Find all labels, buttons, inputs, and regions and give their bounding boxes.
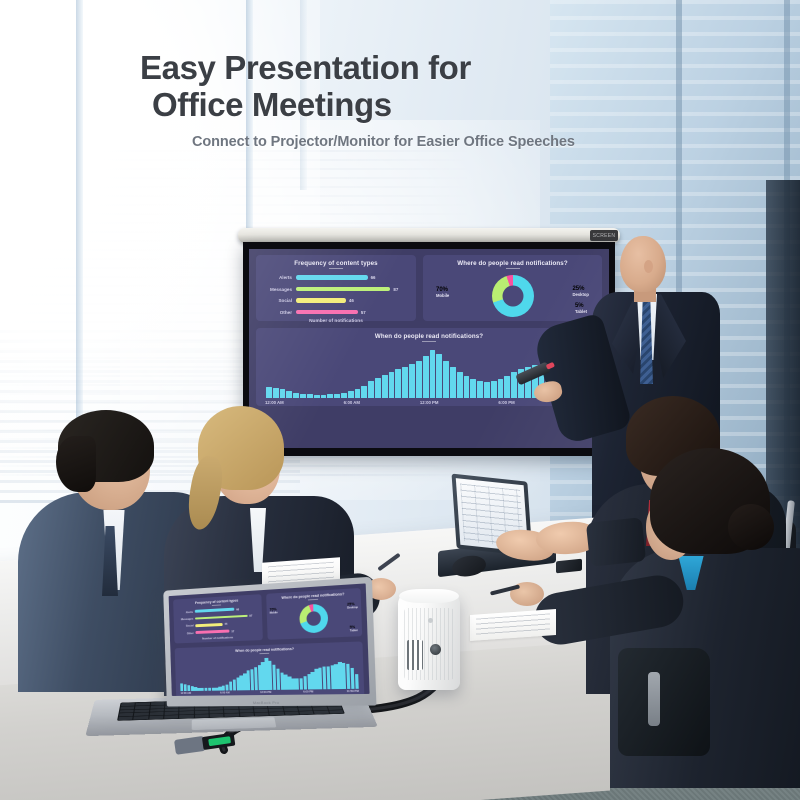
laptop-donut-legend-mobile: 70% Mobile	[270, 608, 278, 615]
laptop-bar-rows: Alerts66Messages87Social46Other57	[177, 605, 259, 637]
bar-fill	[195, 608, 235, 613]
timeseries-bar	[464, 376, 470, 398]
timeseries-bar	[355, 674, 359, 688]
bar-row: Alerts66	[263, 273, 409, 282]
bar-track: 66	[296, 275, 409, 280]
laptop-donut-legend-desktop: 25% Desktop	[347, 603, 358, 611]
presenter-ear	[644, 260, 653, 273]
timeseries-bar	[402, 367, 408, 398]
timeseries-bar	[348, 391, 354, 398]
primary-laptop[interactable]: Frequency of content types Alerts66Messa…	[96, 584, 372, 774]
keyboard-key[interactable]	[225, 713, 239, 716]
label: Mobile	[270, 612, 278, 615]
bar-fill	[296, 298, 346, 302]
timeseries-bar	[266, 387, 272, 398]
timeseries-bar	[504, 376, 510, 398]
screen-roller-bar: SCREEN	[238, 228, 620, 243]
suit-cuff	[586, 517, 646, 567]
device-indicator-dot	[428, 618, 433, 623]
bar-value: 66	[236, 607, 239, 611]
bar-value: 57	[361, 310, 366, 315]
bar-value: 57	[231, 629, 234, 633]
bar-label: Social	[263, 298, 296, 303]
bar-chart-title: Frequency of content types	[263, 260, 409, 267]
axis-tick-label: 6:00 AM	[344, 400, 360, 405]
keyboard-key[interactable]	[299, 711, 314, 714]
laptop-panel-timeseries: When do people read notifications? 12:00…	[175, 641, 365, 696]
timeseries-bar	[341, 393, 347, 398]
donut-legend-tablet-label: Tablet	[575, 310, 587, 315]
donut-legend-desktop: 25% Desktop	[572, 286, 589, 298]
timeseries-bar	[409, 364, 415, 398]
page-title: Easy Presentation for Office Meetings	[140, 50, 700, 124]
donut-legend-mobile: 70% Mobile	[436, 287, 449, 299]
laptop-panel-bar-chart: Frequency of content types Alerts66Messa…	[173, 594, 263, 643]
keyboard-key[interactable]	[314, 711, 329, 714]
bar-label: Alerts	[177, 609, 195, 614]
timeseries-bar	[389, 372, 395, 398]
timeseries-bar	[395, 369, 401, 398]
keyboard-key[interactable]	[284, 712, 299, 715]
panel-where-people-read-notifications: Where do people read notifications? 70% …	[423, 255, 602, 321]
laptop-screen: Frequency of content types Alerts66Messa…	[169, 583, 370, 696]
timeseries-bar	[286, 391, 292, 398]
window-mullion	[76, 0, 83, 470]
bar-track: 46	[296, 298, 409, 303]
keyboard-key[interactable]	[329, 710, 344, 713]
axis-tick-label: 12:00 AM	[265, 400, 284, 405]
timeseries-bar	[368, 381, 374, 398]
donut-legend-desktop-label: Desktop	[572, 293, 589, 298]
laptop-timeseries-bars	[179, 653, 358, 691]
timeseries-bar	[300, 394, 306, 398]
bar-chart-rows: Alerts66Messages87Social46Other57	[263, 273, 409, 317]
presenter-head	[620, 236, 666, 292]
timeseries-bar	[273, 388, 279, 398]
bar-value: 46	[224, 622, 227, 626]
timeseries-bar	[436, 354, 442, 398]
timeseries-bar	[375, 378, 381, 398]
attendee-hair-side	[56, 436, 96, 492]
bar-fill	[195, 623, 222, 627]
title-rule	[212, 604, 221, 605]
bar-fill	[296, 310, 358, 314]
timeseries-bar	[491, 381, 497, 398]
keyboard-key[interactable]	[149, 716, 163, 719]
axis-tick-label: 6:00 PM	[303, 690, 313, 693]
bar-value: 87	[249, 613, 252, 617]
laptop-bag	[618, 648, 710, 756]
bar-fill	[195, 614, 247, 619]
keyboard-key[interactable]	[270, 712, 284, 715]
page-subtitle: Connect to Projector/Monitor for Easier …	[192, 134, 752, 150]
timeseries-bar	[280, 389, 286, 398]
timeseries-bar	[293, 393, 299, 398]
timeseries-bar	[321, 395, 327, 398]
laptop-trackpad[interactable]	[192, 717, 277, 730]
donut-chart: 70% Mobile 25% Desktop 5%	[430, 273, 595, 319]
donut-legend-mobile-label: Mobile	[436, 294, 449, 299]
keyboard-key[interactable]	[195, 714, 209, 717]
timeseries-bar	[484, 382, 490, 398]
bar-label: Social	[177, 624, 195, 629]
axis-tick-label: 12:00 PM	[420, 400, 439, 405]
laptop-brand-label: MacBook Pro	[167, 699, 377, 705]
bar-track: 57	[296, 310, 409, 315]
laptop-donut-ring	[299, 603, 328, 633]
timeseries-bar	[470, 379, 476, 398]
paper-text-lines	[476, 613, 550, 636]
bar-chart-xlabel: Number of notifications	[263, 319, 409, 324]
bar-value: 66	[371, 275, 376, 280]
donut-ring	[492, 275, 534, 317]
bar-label: Messages	[263, 287, 296, 292]
panel-frequency-of-content-types: Frequency of content types Alerts66Messa…	[256, 255, 416, 321]
bar-value: 46	[349, 298, 354, 303]
bar-row: Other57	[263, 308, 409, 317]
bar-track: 87	[296, 287, 409, 292]
laptop-dashboard: Frequency of content types Alerts66Messa…	[169, 583, 370, 696]
label: Desktop	[347, 607, 358, 611]
title-rule	[422, 341, 436, 342]
laptop-panel-donut-chart: Where do people read notifications? 70% …	[266, 588, 362, 640]
title-rule	[307, 599, 317, 600]
bar-label: Other	[263, 310, 296, 315]
timeseries-bar	[477, 381, 483, 398]
bar-label: Other	[178, 631, 196, 636]
donut-legend-tablet: 5% Tablet	[575, 303, 587, 315]
timeseries-bar	[430, 350, 436, 398]
timeseries-bar	[450, 367, 456, 398]
timeseries-bar	[334, 394, 340, 398]
hdmi-adapter-device[interactable]	[398, 592, 460, 690]
bar-track: 57	[195, 628, 258, 635]
scene: Easy Presentation for Office Meetings Co…	[0, 0, 800, 800]
axis-tick-label: 11:59 PM	[347, 689, 359, 692]
timeseries-bar	[498, 379, 504, 398]
axis-tick-label: 12:00 PM	[260, 690, 271, 693]
title-rule	[259, 653, 269, 654]
bar-fill	[296, 287, 390, 291]
donut-chart-title: Where do people read notifications?	[430, 260, 595, 267]
keyboard-key[interactable]	[255, 713, 269, 716]
bar-label: Messages	[177, 617, 195, 622]
timeseries-bar	[416, 361, 422, 398]
axis-tick-label: 6:00 AM	[220, 691, 230, 694]
timeseries-bar	[307, 394, 313, 398]
keyboard-key[interactable]	[118, 717, 133, 720]
attendee-hair-bun	[728, 504, 774, 550]
title-rule	[506, 268, 520, 269]
bag-buckle	[648, 672, 660, 726]
timeseries-bar	[443, 361, 449, 398]
timeseries-bar	[382, 375, 388, 398]
laptop-donut-legend-tablet: 5% Tablet	[350, 626, 358, 633]
timeseries-bar	[355, 389, 361, 398]
headline-line-1: Easy Presentation for	[140, 49, 471, 86]
keyboard-key[interactable]	[210, 714, 224, 717]
laptop-lid: Frequency of content types Alerts66Messa…	[163, 577, 376, 707]
keyboard-key[interactable]	[179, 715, 193, 718]
device-cable-port[interactable]	[430, 644, 441, 655]
device-top-cap	[399, 589, 459, 603]
bar-row: Messages87	[263, 285, 409, 294]
keyboard-key[interactable]	[240, 713, 254, 716]
bar-fill	[296, 275, 368, 279]
laptop-dashboard-top-row: Frequency of content types Alerts66Messa…	[173, 588, 362, 644]
laptop-donut: 70% Mobile 25% Desktop 5%	[270, 599, 357, 636]
headline-line-2: Office Meetings	[140, 87, 700, 124]
timeseries-bar	[327, 394, 333, 398]
axis-tick-label: 12:00 AM	[180, 691, 190, 694]
bar-value: 87	[393, 287, 398, 292]
timeseries-bar	[314, 395, 320, 398]
timeseries-bar	[423, 356, 429, 398]
axis-tick-label: 6:00 PM	[498, 400, 514, 405]
bar-row: Social46	[263, 296, 409, 305]
timeseries-bar	[361, 386, 367, 398]
bar-label: Alerts	[263, 275, 296, 280]
label: Tablet	[350, 630, 358, 633]
timeseries-bar	[457, 372, 463, 398]
dashboard-top-row: Frequency of content types Alerts66Messa…	[256, 255, 602, 321]
bar-fill	[195, 630, 229, 634]
title-rule	[329, 268, 343, 269]
keyboard-key[interactable]	[134, 716, 149, 719]
device-vent-grille	[407, 640, 423, 670]
keyboard-key[interactable]	[164, 715, 178, 718]
